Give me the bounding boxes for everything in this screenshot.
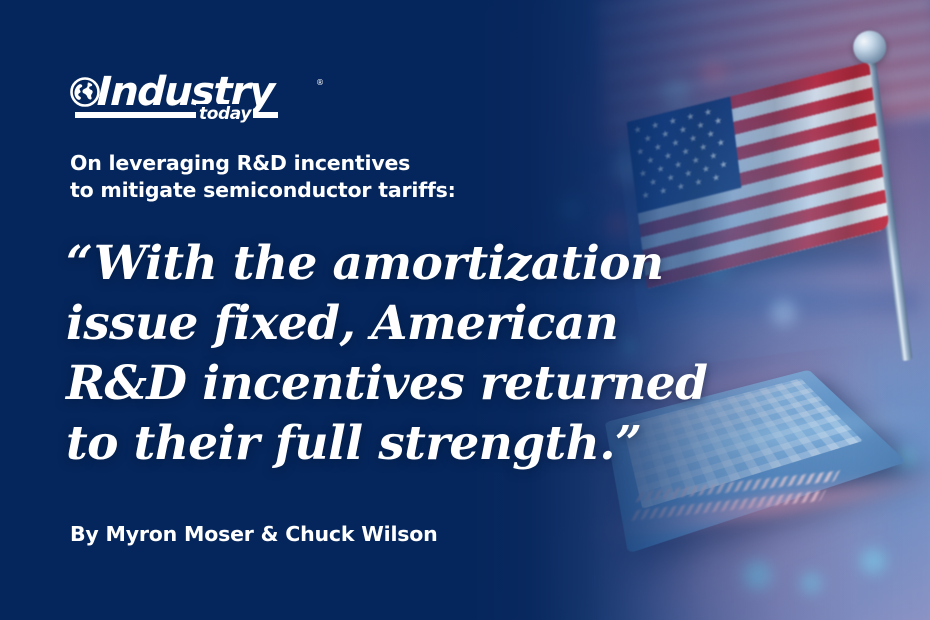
card-content: Industry ® today On leveraging R&D incen… [0,0,930,620]
quote-card: ★ ★ ★ ★ ★ ★ ★ ★ ★ ★ ★ ★ ★ ★ ★ ★ ★ [0,0,930,620]
globe-icon [70,77,100,107]
industry-today-logo[interactable]: Industry ® today [70,74,280,126]
quote-line-4: to their full strength.” [66,414,707,474]
logo-subword: today [196,104,253,124]
kicker-text: On leveraging R&D incentives to mitigate… [70,150,456,204]
quote-line-2: issue fixed, American [66,294,707,354]
byline: By Myron Moser & Chuck Wilson [70,522,438,546]
kicker-line-2: to mitigate semiconductor tariffs: [70,177,456,204]
quote-line-1: “With the amortization [66,234,707,294]
registered-mark-icon: ® [316,78,324,87]
pull-quote: “With the amortization issue fixed, Amer… [66,234,707,474]
kicker-line-1: On leveraging R&D incentives [70,150,456,177]
quote-line-3: R&D incentives returned [66,354,707,414]
